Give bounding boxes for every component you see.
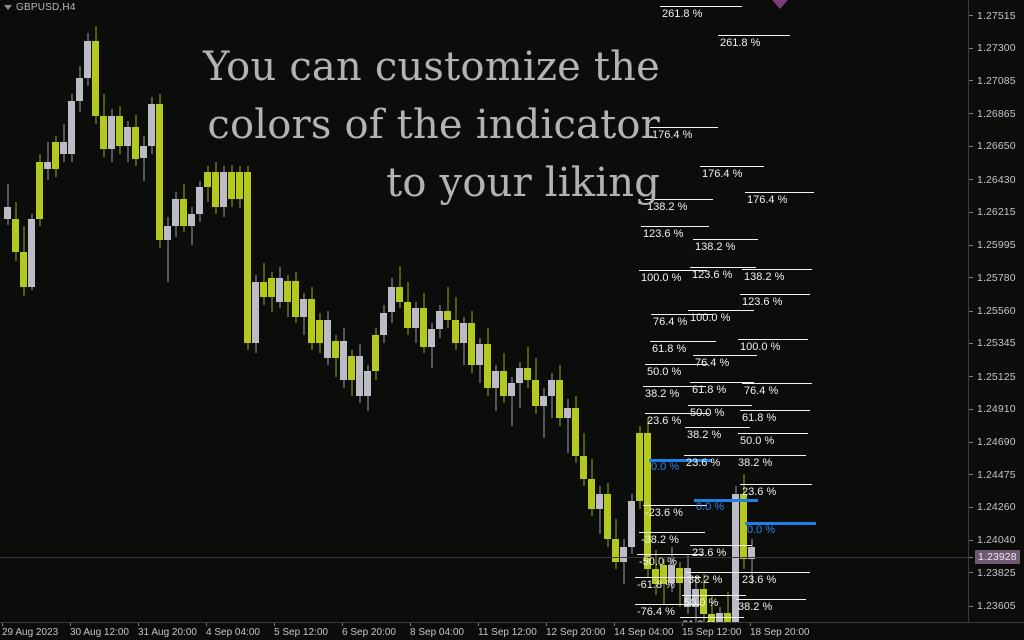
candlestick (580, 433, 587, 486)
promo-line-3: to your liking (150, 154, 660, 212)
candlestick (484, 328, 491, 396)
price-tick-mark (969, 474, 973, 475)
time-tick-mark (614, 623, 615, 626)
candle-body (580, 456, 587, 479)
candlestick (636, 426, 643, 509)
time-tick-mark (478, 623, 479, 626)
fib-level-line (738, 339, 808, 340)
candlestick (540, 388, 547, 438)
candle-body (492, 371, 499, 388)
candlestick (68, 94, 75, 162)
price-tick-value: 1.24260 (977, 501, 1016, 513)
time-tick: 30 Aug 12:00 (70, 623, 129, 640)
price-tick: 1.25345 (969, 337, 1024, 349)
time-tick-mark (274, 623, 275, 626)
candlestick (260, 263, 267, 305)
candlestick (452, 297, 459, 350)
candlestick (76, 66, 83, 111)
time-tick: 11 Sep 12:00 (478, 623, 537, 640)
promo-line-1: You can customize the (150, 38, 660, 96)
price-tick: 1.25780 (969, 272, 1024, 284)
candle-body (516, 368, 523, 383)
candle-body (332, 341, 339, 358)
price-tick: 1.27300 (969, 42, 1024, 54)
candlestick (476, 338, 483, 383)
candle-body (292, 281, 299, 317)
time-tick-label: 6 Sep 20:00 (342, 627, 396, 638)
candle-body (476, 344, 483, 365)
price-tick-mark (969, 572, 973, 573)
candlestick (100, 94, 107, 157)
candle-body (532, 380, 539, 406)
candle-body (164, 226, 171, 240)
candlestick (388, 278, 395, 323)
fib-level-label: 261.8 % (662, 8, 702, 20)
candle-body (60, 142, 67, 154)
candlestick (420, 293, 427, 353)
price-tick-value: 1.26430 (977, 174, 1016, 186)
candle-body (116, 116, 123, 146)
time-tick-label: 11 Sep 12:00 (478, 627, 537, 638)
candlestick (396, 266, 403, 308)
candlestick (404, 282, 411, 335)
candle-body (572, 408, 579, 456)
fib-level-label: 76.4 % (695, 357, 729, 369)
candlestick (516, 362, 523, 407)
candlestick (164, 217, 171, 282)
time-tick-mark (546, 623, 547, 626)
candlestick (340, 328, 347, 388)
time-tick: 8 Sep 04:00 (410, 623, 464, 640)
fib-level-label: 100.0 % (690, 312, 730, 324)
candlestick (428, 323, 435, 368)
candle-body (588, 479, 595, 509)
candle-body (404, 302, 411, 328)
price-tick-value: 1.25780 (977, 272, 1016, 284)
candle-wick (143, 136, 144, 181)
candle-body (76, 78, 83, 101)
price-tick: 1.25125 (969, 371, 1024, 383)
time-tick: 15 Sep 12:00 (682, 623, 742, 640)
fib-level-label: 123.6 % (643, 228, 683, 240)
candlestick (348, 350, 355, 395)
price-tick-value: 1.26865 (977, 108, 1016, 120)
candle-body (276, 278, 283, 302)
candlestick (436, 305, 443, 338)
fib-level-label: 0.0 % (696, 501, 724, 513)
fib-level-label: 50.0 % (647, 366, 681, 378)
candlestick (268, 272, 275, 313)
candle-body (4, 207, 11, 219)
price-tick: 1.25560 (969, 305, 1024, 317)
time-tick-label: 14 Sep 04:00 (614, 627, 674, 638)
candlestick (500, 353, 507, 403)
candlestick (460, 317, 467, 365)
candlestick (612, 519, 619, 569)
candle-body (596, 494, 603, 509)
price-tick-mark (969, 343, 973, 344)
candlestick (468, 311, 475, 373)
price-tick-mark (969, 409, 973, 410)
candlestick (108, 109, 115, 162)
candlestick (716, 607, 723, 622)
time-tick: 12 Sep 20:00 (546, 623, 606, 640)
candlestick (188, 207, 195, 245)
candle-body (132, 127, 139, 159)
fib-level-line (742, 383, 812, 384)
chevron-down-icon[interactable] (4, 5, 12, 10)
price-tick: 1.26215 (969, 206, 1024, 218)
candle-body (460, 323, 467, 343)
price-tick-value: 1.24910 (977, 403, 1016, 415)
fib-level-line (639, 532, 705, 533)
time-tick-mark (682, 623, 683, 626)
candle-body (372, 335, 379, 371)
promo-overlay-text: You can customize the colors of the indi… (150, 38, 660, 212)
candlestick (676, 562, 683, 607)
fib-level-line (693, 239, 758, 240)
candlestick (12, 202, 19, 261)
candlestick (564, 399, 571, 453)
fib-level-line (693, 355, 757, 356)
fib-level-label: 138.2 % (744, 271, 784, 283)
fib-level-line (740, 410, 810, 411)
candle-body (108, 116, 115, 149)
chart-plot-area[interactable]: 261.8 %176.4 %138.2 %123.6 %100.0 %76.4 … (0, 0, 968, 622)
candle-body (556, 380, 563, 418)
candle-body (388, 287, 395, 313)
fib-level-label: 0.0 % (747, 524, 775, 536)
fib-level-label: 61.8 % (652, 343, 686, 355)
time-tick-label: 4 Sep 04:00 (206, 627, 260, 638)
candle-body (52, 142, 59, 169)
fib-level-label: 76.4 % (744, 385, 778, 397)
price-tick-value: 1.23825 (977, 567, 1016, 579)
promo-line-2: colors of the indicator (150, 96, 660, 154)
candle-body (564, 408, 571, 419)
price-tick-mark (969, 277, 973, 278)
fib-level-label: 61.8 % (742, 412, 776, 424)
price-tick: 1.27085 (969, 75, 1024, 87)
candle-body (500, 371, 507, 395)
fib-level-label: -38.2 % (641, 534, 679, 546)
fib-level-label: 38.2 % (738, 457, 772, 469)
price-tick-value: 1.24475 (977, 469, 1016, 481)
time-tick: 6 Sep 20:00 (342, 623, 396, 640)
candle-body (436, 311, 443, 329)
candle-body (308, 299, 315, 343)
price-tick-mark (969, 15, 973, 16)
candle-body (396, 287, 403, 302)
candlestick (276, 267, 283, 308)
fib-level-label: 176.4 % (702, 168, 742, 180)
fib-level-line (690, 267, 756, 268)
candlestick (524, 347, 531, 388)
candle-body (20, 252, 27, 287)
candlestick (508, 377, 515, 425)
fib-level-line (641, 226, 709, 227)
candlestick (364, 365, 371, 410)
time-tick-label: 15 Sep 12:00 (682, 627, 742, 638)
fib-level-line (650, 127, 718, 128)
symbol-bar[interactable]: GBPUSD,H4 (0, 0, 76, 14)
time-tick: 29 Aug 2023 (2, 623, 58, 640)
fib-level-line (660, 6, 742, 7)
candle-body (28, 219, 35, 287)
current-price-value: 1.23928 (975, 550, 1020, 564)
candlestick (572, 396, 579, 464)
candlestick (588, 459, 595, 516)
fib-level-label: 38.2 % (645, 388, 679, 400)
price-tick-value: 1.24690 (977, 436, 1016, 448)
symbol-label: GBPUSD,H4 (16, 2, 76, 13)
time-tick-mark (70, 623, 71, 626)
fib-level-label: 123.6 % (692, 269, 732, 281)
fib-level-line (745, 192, 814, 193)
price-tick-mark (969, 48, 973, 49)
candle-body (740, 494, 747, 559)
price-tick-mark (969, 540, 973, 541)
fib-level-line (736, 455, 806, 456)
candle-body (340, 341, 347, 380)
fibonacci-handle-icon[interactable] (772, 0, 788, 9)
time-tick: 5 Sep 12:00 (274, 623, 328, 640)
fib-level-label: 176.4 % (747, 194, 787, 206)
candle-body (452, 320, 459, 343)
candlestick (316, 313, 323, 354)
time-tick-label: 8 Sep 04:00 (410, 627, 464, 638)
price-tick: 1.26865 (969, 108, 1024, 120)
candle-body (604, 494, 611, 539)
price-tick-mark (969, 113, 973, 114)
price-tick: 1.24040 (969, 534, 1024, 546)
time-tick-mark (138, 623, 139, 626)
candle-body (444, 311, 451, 320)
candle-body (540, 396, 547, 407)
price-tick-value: 1.26650 (977, 140, 1016, 152)
candle-body (636, 433, 643, 501)
mt-chart-window: 261.8 %176.4 %138.2 %123.6 %100.0 %76.4 … (0, 0, 1024, 640)
candlestick (556, 365, 563, 425)
candlestick (252, 275, 259, 354)
candlestick (532, 358, 539, 414)
candlestick (308, 287, 315, 350)
candle-body (548, 380, 555, 395)
time-tick: 18 Sep 20:00 (750, 623, 810, 640)
fib-level-line (690, 545, 752, 546)
fib-level-line (736, 599, 806, 600)
candlestick (92, 26, 99, 124)
candle-body (628, 501, 635, 546)
fib-level-line (700, 166, 764, 167)
candlestick (28, 214, 35, 289)
fib-level-label: -50.0 % (639, 556, 677, 568)
time-tick-mark (2, 623, 3, 626)
price-tick-value: 1.25560 (977, 305, 1016, 317)
candle-body (92, 41, 99, 116)
price-tick-mark (969, 376, 973, 377)
fib-level-label: 23.6 % (692, 547, 726, 559)
fib-level-label: 76.4 % (653, 316, 687, 328)
price-tick-value: 1.27300 (977, 42, 1016, 54)
price-axis[interactable]: 1.275151.273001.270851.268651.266501.264… (968, 0, 1024, 622)
price-tick-mark (969, 442, 973, 443)
price-tick-value: 1.24040 (977, 534, 1016, 546)
candlestick (52, 136, 59, 177)
price-tick: 1.23825 (969, 567, 1024, 579)
candle-body (484, 344, 491, 388)
candle-body (508, 383, 515, 395)
fib-level-line (682, 595, 746, 596)
candle-body (412, 308, 419, 328)
fib-level-label: 23.6 % (647, 415, 681, 427)
fib-level-line (742, 269, 812, 270)
candlestick (372, 328, 379, 381)
candle-body (468, 323, 475, 365)
fib-level-label: 50.0 % (740, 435, 774, 447)
candle-body (100, 116, 107, 149)
price-tick: 1.26430 (969, 174, 1024, 186)
fib-level-label: -76.4 % (637, 606, 675, 618)
candlestick (620, 539, 627, 584)
candlestick (292, 272, 299, 323)
candlestick (300, 293, 307, 335)
time-tick-mark (750, 623, 751, 626)
fib-level-line (685, 427, 750, 428)
fib-level-line (650, 341, 716, 342)
fib-level-label: 23.6 % (742, 574, 776, 586)
price-tick-value: 1.26215 (977, 206, 1016, 218)
current-price-line (0, 557, 968, 558)
candlestick (412, 302, 419, 343)
candlestick (20, 226, 27, 295)
fib-level-label: 23.6 % (742, 486, 776, 498)
candle-wick (447, 287, 448, 328)
price-tick: 1.27515 (969, 10, 1024, 22)
fib-level-label: 100.0 % (740, 341, 780, 353)
current-price-badge: 1.23928 (969, 551, 1024, 563)
fib-level-label: 50.0 % (690, 407, 724, 419)
candlestick (332, 335, 339, 377)
price-tick-value: 1.25995 (977, 239, 1016, 251)
price-tick: 1.25995 (969, 239, 1024, 251)
candlestick (4, 184, 11, 225)
candlestick (356, 344, 363, 403)
time-tick-mark (342, 623, 343, 626)
fib-level-label: 138.2 % (695, 241, 735, 253)
price-tick-value: 1.27515 (977, 10, 1016, 22)
candlestick (628, 494, 635, 554)
candle-body (68, 101, 75, 154)
fib-level-line (740, 294, 810, 295)
candlestick (324, 311, 331, 365)
price-tick-mark (969, 507, 973, 508)
fib-level-label: -61.8 % (637, 579, 675, 591)
price-tick: 1.24260 (969, 501, 1024, 513)
price-tick-mark (969, 80, 973, 81)
candlestick (44, 142, 51, 180)
candlestick (604, 483, 611, 546)
price-tick: 1.26650 (969, 140, 1024, 152)
fib-level-line (740, 484, 812, 485)
candle-body (620, 547, 627, 562)
candlestick (644, 418, 651, 577)
time-tick-mark (410, 623, 411, 626)
time-tick-label: 12 Sep 20:00 (546, 627, 606, 638)
candlestick (380, 305, 387, 343)
candle-body (44, 162, 51, 170)
candlestick (548, 373, 555, 418)
price-tick: 1.24690 (969, 436, 1024, 448)
candlestick (492, 365, 499, 410)
candle-body (300, 299, 307, 317)
time-tick-label: 31 Aug 20:00 (138, 627, 197, 638)
fib-level-label: 38.2 % (687, 429, 721, 441)
fib-level-label: 61.8 % (692, 384, 726, 396)
candlestick (444, 287, 451, 328)
candlestick (60, 124, 67, 162)
candle-body (260, 282, 267, 297)
price-tick: 1.23605 (969, 600, 1024, 612)
candle-body (348, 356, 355, 380)
fib-level-line (718, 35, 790, 36)
candlestick (140, 136, 147, 181)
candlestick (116, 106, 123, 154)
candlestick (132, 115, 139, 166)
candle-body (420, 308, 427, 347)
candle-body (268, 278, 275, 298)
candlestick (36, 154, 43, 226)
fib-level-line (688, 310, 754, 311)
time-tick-label: 18 Sep 20:00 (750, 627, 810, 638)
fib-level-line (738, 433, 808, 434)
fib-level-label: 38.2 % (738, 601, 772, 613)
candle-body (428, 329, 435, 347)
time-tick: 4 Sep 04:00 (206, 623, 260, 640)
fib-level-label: 38.2 % (688, 574, 722, 586)
time-tick-label: 29 Aug 2023 (2, 627, 58, 638)
candlestick (284, 275, 291, 317)
price-tick-mark (969, 245, 973, 246)
fib-level-label: 0.0 % (651, 461, 679, 473)
price-tick-value: 1.25345 (977, 337, 1016, 349)
fib-level-label: 23.6 % (686, 457, 720, 469)
price-tick-value: 1.23605 (977, 600, 1016, 612)
price-tick-value: 1.27085 (977, 75, 1016, 87)
time-tick-label: 30 Aug 12:00 (70, 627, 129, 638)
candle-body (12, 219, 19, 252)
candle-body (188, 214, 195, 226)
price-tick-mark (969, 311, 973, 312)
candle-body (316, 320, 323, 343)
candle-body (676, 568, 683, 583)
candlestick (124, 121, 131, 162)
fib-level-label: 100.0 % (641, 272, 681, 284)
fib-level-line (688, 405, 752, 406)
time-axis[interactable]: 29 Aug 202330 Aug 12:0031 Aug 20:004 Sep… (0, 622, 1024, 640)
current-price-tick-mark (969, 557, 973, 558)
candle-body (524, 368, 531, 380)
candle-body (364, 371, 371, 395)
candle-body (356, 356, 363, 395)
candle-body (140, 146, 147, 158)
price-tick-mark (969, 179, 973, 180)
time-tick: 31 Aug 20:00 (138, 623, 197, 640)
price-tick-mark (969, 212, 973, 213)
candle-body (36, 162, 43, 219)
candle-body (644, 433, 651, 569)
price-tick-mark (969, 146, 973, 147)
